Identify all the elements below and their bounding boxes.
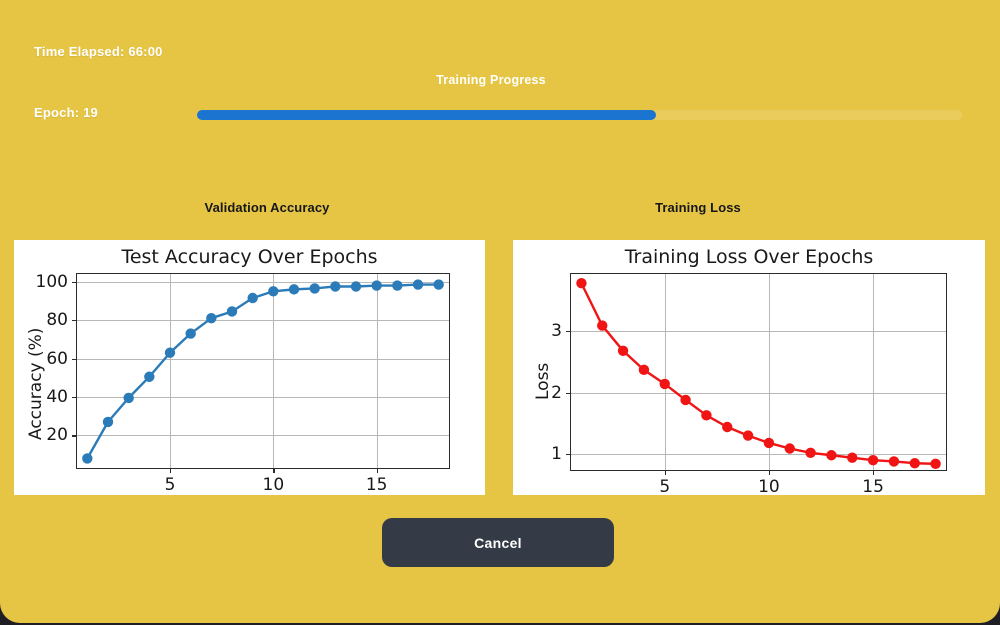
series-marker — [371, 280, 381, 290]
series-marker — [680, 395, 690, 405]
series-marker — [597, 320, 607, 330]
y-tick-label: 80 — [46, 310, 68, 330]
series-marker — [165, 348, 175, 358]
cancel-button[interactable]: Cancel — [382, 518, 614, 567]
x-tick-mark — [377, 468, 378, 473]
validation-accuracy-heading: Validation Accuracy — [14, 200, 520, 215]
training-loss-heading: Training Loss — [480, 200, 916, 215]
x-tick-mark — [873, 470, 874, 475]
series-marker — [764, 438, 774, 448]
accuracy-plot-area: 2040608010051015 — [76, 273, 450, 469]
series-marker — [330, 281, 340, 291]
y-tick-label: 2 — [551, 383, 562, 403]
x-tick-label: 10 — [263, 475, 285, 495]
series-marker — [227, 306, 237, 316]
series-marker — [889, 456, 899, 466]
y-tick-label: 100 — [36, 272, 68, 292]
accuracy-chart-title: Test Accuracy Over Epochs — [14, 246, 485, 268]
x-tick-label: 10 — [758, 477, 780, 495]
series-marker — [123, 393, 133, 403]
training-progress-fill — [197, 110, 656, 120]
y-tick-label: 60 — [46, 349, 68, 369]
series-marker — [910, 458, 920, 468]
series-marker — [722, 422, 732, 432]
x-tick-mark — [665, 470, 666, 475]
series-marker — [247, 293, 257, 303]
y-tick-label: 20 — [46, 425, 68, 445]
series-marker — [392, 280, 402, 290]
series-marker — [701, 410, 711, 420]
accuracy-series — [77, 274, 449, 468]
x-tick-mark — [769, 470, 770, 475]
training-progress-label: Training Progress — [197, 73, 785, 87]
series-marker — [206, 313, 216, 323]
y-tick-label: 3 — [551, 321, 562, 341]
series-marker — [413, 279, 423, 289]
time-elapsed-label: Time Elapsed: 66:00 — [34, 44, 163, 59]
series-marker — [660, 379, 670, 389]
series-line — [581, 283, 935, 464]
training-progress-bar — [197, 110, 962, 120]
series-marker — [618, 346, 628, 356]
series-marker — [868, 455, 878, 465]
series-marker — [826, 450, 836, 460]
series-marker — [805, 448, 815, 458]
x-tick-label: 15 — [862, 477, 884, 495]
loss-series — [571, 274, 946, 470]
loss-chart-card: Training Loss Over Epochs Loss 12351015 — [513, 240, 985, 495]
series-marker — [268, 286, 278, 296]
series-marker — [309, 283, 319, 293]
y-tick-label: 1 — [551, 444, 562, 464]
series-marker — [930, 459, 940, 469]
loss-plot-area: 12351015 — [570, 273, 947, 471]
series-line — [87, 285, 438, 459]
x-tick-label: 5 — [659, 477, 670, 495]
series-marker — [785, 443, 795, 453]
loss-chart-title: Training Loss Over Epochs — [513, 246, 985, 268]
series-marker — [82, 453, 92, 463]
series-marker — [144, 372, 154, 382]
series-marker — [743, 430, 753, 440]
training-dialog: Time Elapsed: 66:00 Epoch: 19 Training P… — [0, 0, 1000, 623]
series-marker — [185, 328, 195, 338]
loss-y-axis-title: Loss — [533, 363, 553, 400]
x-tick-mark — [273, 468, 274, 473]
x-tick-label: 15 — [366, 475, 388, 495]
series-marker — [351, 281, 361, 291]
series-marker — [103, 417, 113, 427]
x-tick-label: 5 — [165, 475, 176, 495]
series-marker — [289, 284, 299, 294]
series-marker — [433, 279, 443, 289]
y-tick-label: 40 — [46, 387, 68, 407]
series-marker — [847, 453, 857, 463]
accuracy-chart-card: Test Accuracy Over Epochs Accuracy (%) 2… — [14, 240, 485, 495]
x-tick-mark — [170, 468, 171, 473]
series-marker — [576, 278, 586, 288]
accuracy-y-axis-title: Accuracy (%) — [26, 328, 46, 440]
series-marker — [639, 365, 649, 375]
epoch-label: Epoch: 19 — [34, 105, 98, 120]
